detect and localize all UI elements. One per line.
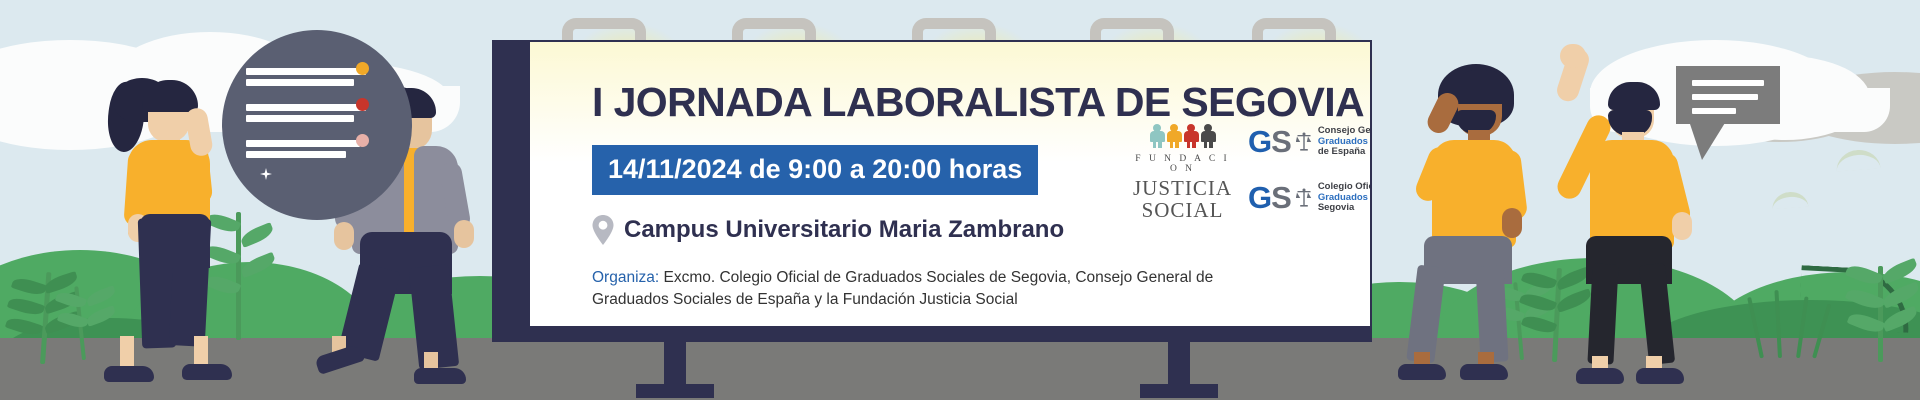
consejo-mark-s: S: [1271, 126, 1291, 157]
colegio-text: Colegio Oficial de Graduados Sociales Se…: [1318, 182, 1372, 214]
page-title: I JORNADA LABORALISTA DE SEGOVIA: [592, 82, 1312, 123]
fundacion-figure-3: [1184, 124, 1199, 148]
billboard-face: I JORNADA LABORALISTA DE SEGOVIA 14/11/2…: [530, 40, 1372, 328]
billboard-foot-right: [1140, 384, 1218, 398]
fundacion-figure-1: [1150, 124, 1165, 148]
date-badge: 14/11/2024 de 9:00 a 20:00 horas: [592, 145, 1038, 195]
billboard-bottom-bar: [492, 328, 1372, 342]
fundacion-line-1: F U N D A C I O N: [1130, 154, 1235, 174]
bubble-line-1b: [246, 79, 354, 86]
ground: [0, 338, 1920, 400]
bubble-line-1: [246, 68, 366, 75]
billboard-foot-left: [636, 384, 714, 398]
scales-of-justice-icon: [1296, 132, 1312, 152]
organiza-body: Excmo. Colegio Oficial de Graduados Soci…: [592, 269, 1213, 308]
fundacion-figure-4: [1201, 124, 1216, 148]
consejo-mark-g: G: [1248, 126, 1271, 157]
billboard: I JORNADA LABORALISTA DE SEGOVIA 14/11/2…: [492, 40, 1372, 328]
organiza-text: Organiza: Excmo. Colegio Oficial de Grad…: [592, 267, 1282, 311]
bubble-line-2b: [246, 115, 354, 122]
bubble-rect-line-2: [1692, 94, 1758, 100]
consejo-text: Consejo General Graduados Sociales de Es…: [1318, 126, 1372, 158]
fundacion-line-3: SOCIAL: [1130, 199, 1235, 221]
bubble-line-3: [246, 140, 360, 147]
colegio-mark-g: G: [1248, 182, 1271, 213]
scales-of-justice-icon-2: [1296, 188, 1312, 208]
organiza-label: Organiza:: [592, 269, 659, 286]
bubble-line-2: [246, 104, 366, 111]
consejo-line-3: de España: [1318, 147, 1372, 158]
bubble-dot-1: [356, 62, 369, 75]
logo-colegio-segovia: G S Colegio Oficial de: [1248, 182, 1372, 214]
billboard-left-edge: [492, 40, 530, 328]
colegio-mark-s: S: [1271, 182, 1291, 213]
fundacion-figure-2: [1167, 124, 1182, 148]
location-text: Campus Universitario Maria Zambrano: [624, 216, 1064, 244]
colegio-line-3: Segovia: [1318, 203, 1372, 214]
bubble-line-3b: [246, 151, 346, 158]
bubble-dot-3: [356, 134, 369, 147]
bubble-rect-line-3: [1692, 108, 1736, 114]
map-pin-icon: [592, 215, 614, 245]
fundacion-figures-icon: [1130, 122, 1235, 148]
fundacion-line-2: JUSTICIA: [1130, 177, 1235, 199]
bubble-dot-2: [356, 98, 369, 111]
event-banner: I JORNADA LABORALISTA DE SEGOVIA 14/11/2…: [0, 0, 1920, 400]
logo-fundacion-justicia-social: F U N D A C I O N JUSTICIA SOCIAL: [1130, 122, 1235, 221]
bubble-rect-line-1: [1692, 80, 1764, 86]
logo-consejo-general: G S Consejo General: [1248, 126, 1372, 158]
